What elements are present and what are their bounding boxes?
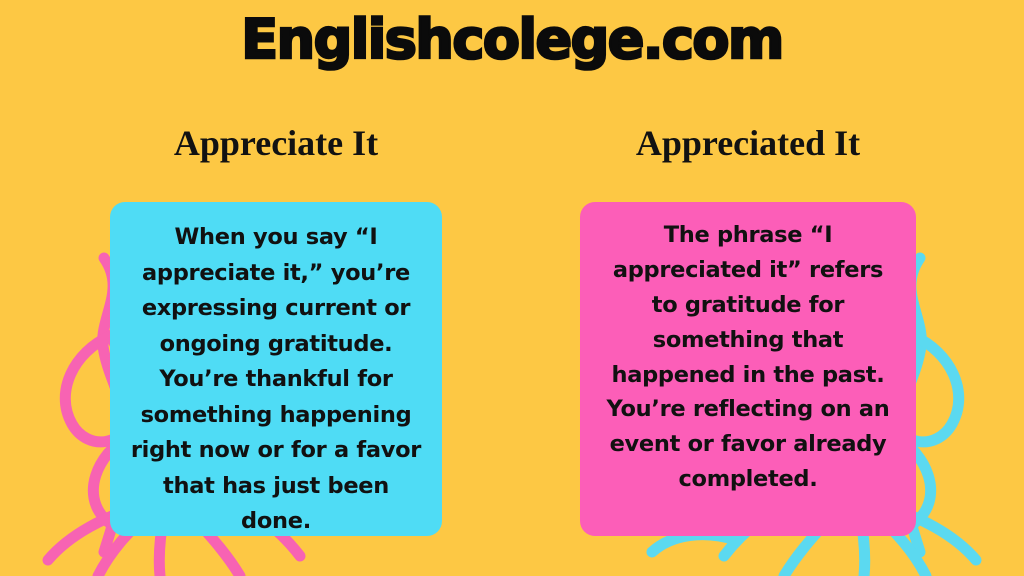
column-heading-appreciate: Appreciate It [110, 122, 442, 164]
column-heading-appreciated: Appreciated It [580, 122, 916, 164]
definition-card-appreciated: The phrase “I appreciated it” refers to … [580, 202, 916, 536]
definition-text-appreciated: The phrase “I appreciated it” refers to … [606, 218, 890, 497]
definition-card-appreciate: When you say “I appreciate it,” you’re e… [110, 202, 442, 536]
definition-text-appreciate: When you say “I appreciate it,” you’re e… [128, 220, 424, 540]
poster-canvas: Englishcolege.com Appreciate It Apprecia… [0, 0, 1024, 576]
page-title: Englishcolege.com [0, 12, 1024, 69]
